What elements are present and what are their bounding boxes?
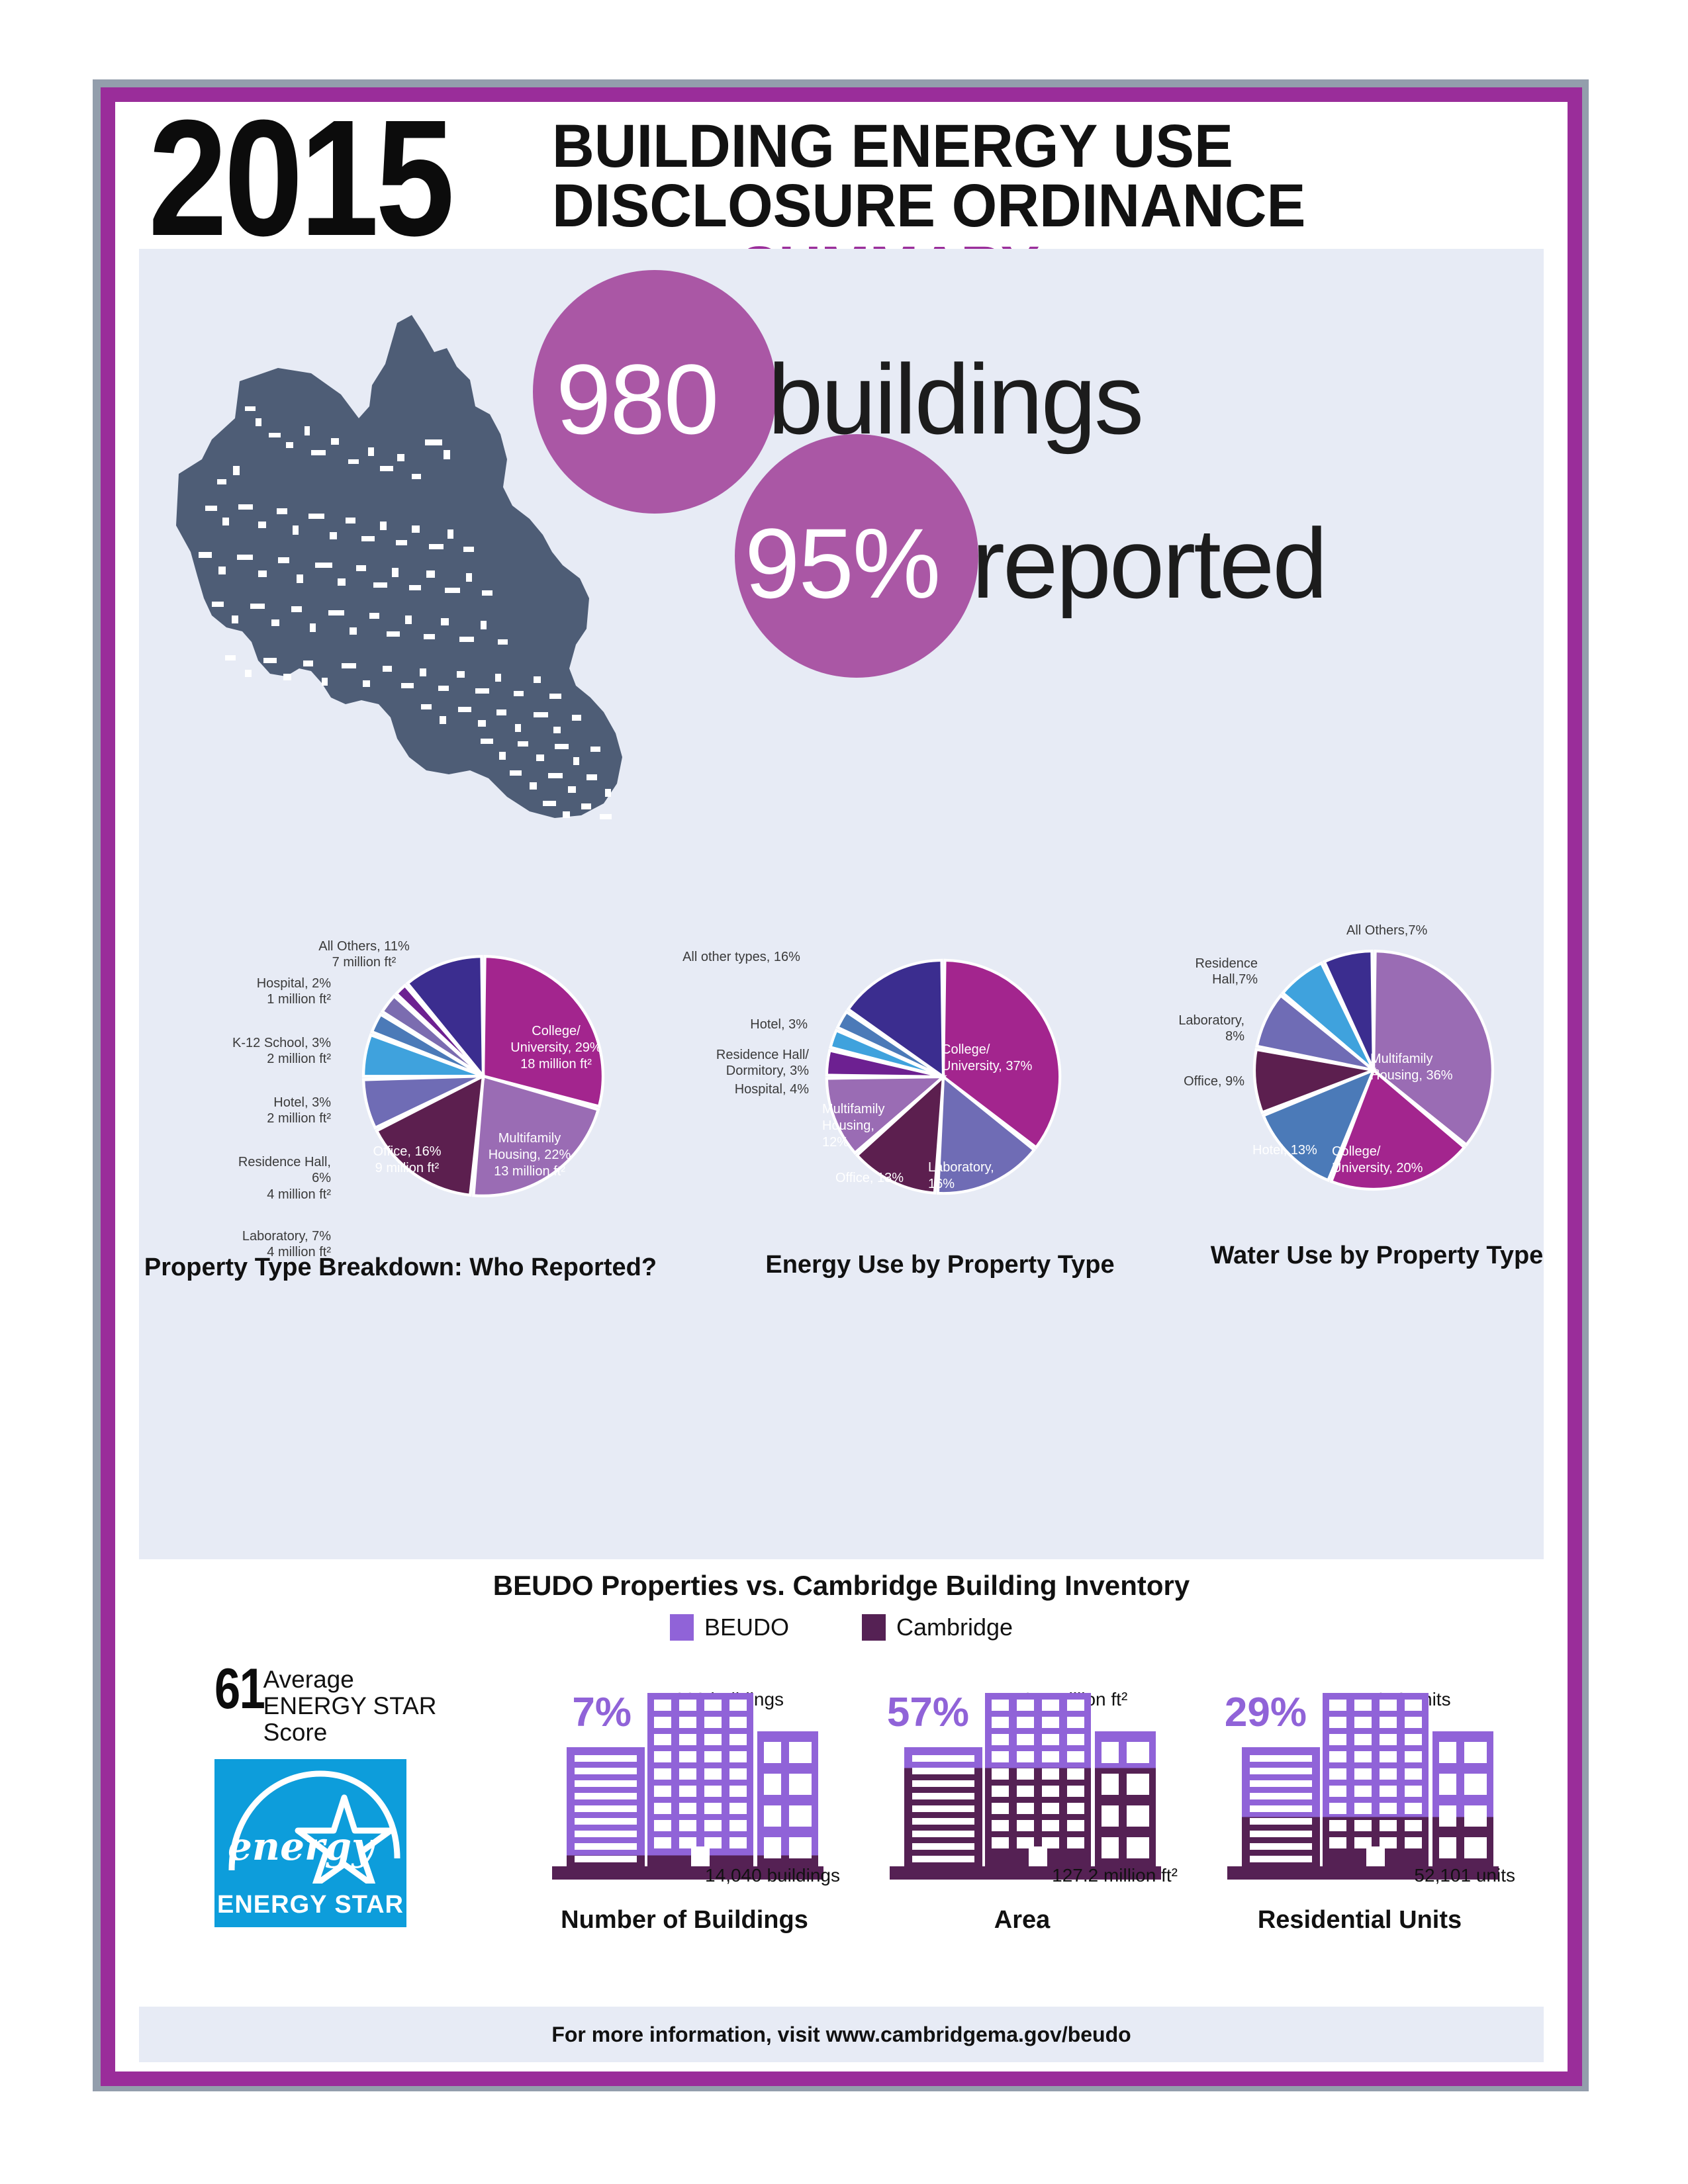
building-part — [1067, 1837, 1084, 1848]
building-part — [764, 1837, 781, 1858]
building-part — [729, 1717, 747, 1728]
building-part — [575, 1831, 637, 1837]
legend-label-beudo: BEUDO — [704, 1614, 789, 1641]
building-part — [1464, 1742, 1487, 1763]
building-part — [912, 1843, 974, 1850]
building-part — [1127, 1805, 1149, 1827]
building-part — [764, 1774, 781, 1795]
callout-k12-1: K-12 School, 3% 2 million ft² — [139, 1035, 331, 1068]
group-caption-area: Area — [857, 1906, 1188, 1934]
building-part — [1405, 1751, 1422, 1762]
building-part — [1127, 1774, 1149, 1795]
building-part — [1405, 1837, 1422, 1848]
building-part — [912, 1793, 974, 1799]
building-part — [1017, 1786, 1034, 1797]
building-part — [1250, 1793, 1312, 1799]
building-part — [1250, 1768, 1312, 1774]
building-part — [704, 1768, 722, 1780]
building-part — [575, 1755, 637, 1762]
building-part — [1250, 1818, 1312, 1825]
building-part — [704, 1700, 722, 1711]
callout-hospital-1: Hospital, 2% 1 million ft² — [139, 976, 331, 1008]
building-part — [1067, 1803, 1084, 1814]
building-part — [1042, 1717, 1059, 1728]
callout-laboratory-3: Laboratory, 8% — [1086, 1013, 1244, 1045]
skyline-icon-area — [870, 1681, 1181, 1880]
building-part — [1405, 1734, 1422, 1745]
building-part — [1380, 1803, 1397, 1814]
building-part — [1067, 1717, 1084, 1728]
callout-hospital-2: Hospital, 4% — [642, 1081, 809, 1097]
stat-number-buildings: 980 — [556, 349, 718, 449]
building-part — [704, 1751, 722, 1762]
callout-residence-hall-2: Residence Hall/ Dormitory, 3% — [635, 1047, 809, 1079]
building-part — [679, 1786, 696, 1797]
building-part — [1354, 1768, 1372, 1780]
building-part — [729, 1837, 747, 1848]
stat-label-buildings: buildings — [768, 349, 1142, 449]
building-part — [704, 1734, 722, 1745]
footer-text: For more information, visit www.cambridg… — [551, 2023, 1131, 2047]
building-part — [789, 1837, 812, 1858]
building-part — [1380, 1751, 1397, 1762]
building-part — [992, 1820, 1009, 1831]
building-part — [654, 1786, 671, 1797]
callout-office-3: Office, 9% — [1086, 1073, 1244, 1089]
building-part — [1042, 1803, 1059, 1814]
building-part — [575, 1818, 637, 1825]
building-part — [654, 1803, 671, 1814]
building-part — [704, 1803, 722, 1814]
building-part — [789, 1805, 812, 1827]
building-part — [912, 1805, 974, 1812]
building-part — [1354, 1803, 1372, 1814]
building-part — [1329, 1717, 1346, 1728]
chart-title-2: Energy Use by Property Type — [728, 1250, 1152, 1280]
building-part — [992, 1786, 1009, 1797]
building-part — [764, 1805, 781, 1827]
building-part — [1017, 1717, 1034, 1728]
stat-label-reported: reported — [972, 514, 1326, 613]
building-part — [654, 1700, 671, 1711]
building-part — [1354, 1734, 1372, 1745]
callout-hotel-1: Hotel, 3% 2 million ft² — [139, 1095, 331, 1127]
building-part — [1329, 1700, 1346, 1711]
building-part — [1329, 1768, 1346, 1780]
building-part — [1017, 1751, 1034, 1762]
group-cambridge-value-units: 52,101 units — [1277, 1865, 1515, 1886]
slice-label-college-1: College/ University, 29% 18 million ft² — [483, 1023, 629, 1072]
building-part — [654, 1734, 671, 1745]
title-line-2: DISCLOSURE ORDINANCE — [552, 176, 1493, 236]
building-part — [679, 1700, 696, 1711]
building-part — [1102, 1774, 1119, 1795]
building-part — [912, 1856, 974, 1862]
building-part — [1067, 1751, 1084, 1762]
building-part — [729, 1751, 747, 1762]
building-part — [575, 1843, 637, 1850]
building-part — [575, 1768, 637, 1774]
building-part — [679, 1768, 696, 1780]
infographic-page: 2015 BUILDING ENERGY USE DISCLOSURE ORDI… — [115, 102, 1568, 2071]
building-part — [729, 1803, 747, 1814]
building-part — [912, 1818, 974, 1825]
building-part — [1380, 1717, 1397, 1728]
group-cambridge-value-buildings: 14,040 buildings — [602, 1865, 840, 1886]
building-part — [1329, 1820, 1346, 1831]
building-part — [654, 1751, 671, 1762]
building-part — [1067, 1786, 1084, 1797]
callout-residence-hall-3: Residence Hall,7% — [1099, 956, 1258, 988]
building-part — [1250, 1805, 1312, 1812]
building-part — [1439, 1774, 1456, 1795]
building-part — [1017, 1820, 1034, 1831]
building-part — [1439, 1742, 1456, 1763]
building-part — [1405, 1717, 1422, 1728]
group-cambridge-value-area: 127.2 million ft² — [939, 1865, 1178, 1886]
building-part — [1329, 1786, 1346, 1797]
building-part — [1250, 1843, 1312, 1850]
building-part — [729, 1700, 747, 1711]
building-part — [789, 1774, 812, 1795]
legend-item-beudo: BEUDO — [670, 1614, 789, 1641]
group-caption-units: Residential Units — [1194, 1906, 1525, 1934]
building-part — [679, 1717, 696, 1728]
building-layer — [552, 1693, 823, 1880]
building-part — [1329, 1803, 1346, 1814]
callout-residence-hall-1: Residence Hall, 6% 4 million ft² — [139, 1154, 331, 1203]
building-part — [679, 1751, 696, 1762]
building-part — [912, 1831, 974, 1837]
callout-all-others-3: All Others,7% — [1346, 923, 1505, 938]
building-part — [1354, 1820, 1372, 1831]
building-part — [1354, 1786, 1372, 1797]
energy-star-score-label: Average ENERGY STAR Score — [263, 1666, 492, 1746]
building-part — [679, 1803, 696, 1814]
energy-star-logo-label: ENERGY STAR — [217, 1891, 404, 1919]
building-part — [1354, 1751, 1372, 1762]
building-part — [992, 1700, 1009, 1711]
building-part — [992, 1734, 1009, 1745]
building-part — [654, 1717, 671, 1728]
comparison-legend: BEUDO Cambridge — [115, 1614, 1568, 1641]
building-part — [1329, 1837, 1346, 1848]
slice-label-college-2: College/ University, 37% — [941, 1042, 1074, 1075]
slice-label-office-2: Office, 13% — [835, 1170, 941, 1187]
building-part — [1067, 1820, 1084, 1831]
building-part — [1067, 1768, 1084, 1780]
slice-label-multifamily-3: Multifamily Housing, 36% — [1370, 1051, 1509, 1084]
building-part — [992, 1803, 1009, 1814]
building-part — [1102, 1837, 1119, 1858]
building-part — [654, 1837, 671, 1848]
building-part — [1380, 1768, 1397, 1780]
building-part — [704, 1820, 722, 1831]
building-part — [912, 1768, 974, 1774]
slice-label-hotel-3: Hotel, 13% — [1252, 1142, 1358, 1159]
year-heading: 2015 — [148, 102, 451, 261]
slice-label-laboratory-2: Laboratory, 16% — [928, 1160, 1027, 1193]
building-part — [789, 1742, 812, 1763]
energy-wordmark: energy — [228, 1824, 377, 1869]
building-part — [729, 1786, 747, 1797]
building-part — [1127, 1837, 1149, 1858]
building-part — [1017, 1734, 1034, 1745]
group-caption-buildings: Number of Buildings — [519, 1906, 850, 1934]
building-part — [654, 1768, 671, 1780]
building-part — [1042, 1786, 1059, 1797]
building-part — [729, 1734, 747, 1745]
energy-star-block: 61 Average ENERGY STAR Score energy ENER… — [214, 1665, 492, 1927]
legend-label-cambridge: Cambridge — [896, 1614, 1013, 1641]
building-part — [729, 1820, 747, 1831]
building-part — [679, 1734, 696, 1745]
building-part — [1329, 1751, 1346, 1762]
legend-item-cambridge: Cambridge — [862, 1614, 1013, 1641]
building-part — [912, 1780, 974, 1787]
building-part — [1017, 1700, 1034, 1711]
building-part — [575, 1805, 637, 1812]
skyline-icon-units — [1207, 1681, 1519, 1880]
stat-number-reported: 95% — [745, 514, 939, 613]
building-part — [1067, 1734, 1084, 1745]
slice-label-multifamily-1: Multifamily Housing, 22% 13 million ft² — [463, 1130, 596, 1179]
building-part — [1042, 1751, 1059, 1762]
building-part — [1380, 1786, 1397, 1797]
building-part — [1380, 1734, 1397, 1745]
chart-title-1: Property Type Breakdown: Who Reported? — [139, 1252, 662, 1283]
building-part — [1042, 1734, 1059, 1745]
slice-label-office-1: Office, 16% 9 million ft² — [351, 1144, 463, 1177]
title-line-1: BUILDING ENERGY USE — [552, 116, 1493, 176]
building-part — [1042, 1768, 1059, 1780]
building-part — [1405, 1768, 1422, 1780]
building-part — [654, 1820, 671, 1831]
building-part — [1405, 1700, 1422, 1711]
slice-label-multifamily-2: Multifamily Housing, 12% — [822, 1101, 915, 1150]
building-part — [575, 1780, 637, 1787]
building-part — [992, 1837, 1009, 1848]
building-part — [1250, 1831, 1312, 1837]
building-part — [1354, 1700, 1372, 1711]
building-part — [992, 1717, 1009, 1728]
building-part — [704, 1717, 722, 1728]
callout-hotel-2: Hotel, 3% — [642, 1017, 808, 1032]
footer: For more information, visit www.cambridg… — [139, 2007, 1544, 2062]
building-part — [1067, 1700, 1084, 1711]
callout-all-others-1: All Others, 11% 7 million ft² — [271, 938, 457, 971]
building-part — [1380, 1820, 1397, 1831]
building-part — [1464, 1774, 1487, 1795]
callout-all-other-types-2: All other types, 16% — [635, 949, 847, 965]
building-part — [992, 1768, 1009, 1780]
legend-swatch-cambridge — [862, 1614, 886, 1641]
building-part — [992, 1751, 1009, 1762]
building-part — [912, 1755, 974, 1762]
energy-star-mark-icon: energy — [214, 1759, 406, 1884]
energy-star-logo: energy ENERGY STAR — [214, 1759, 406, 1927]
building-part — [1380, 1700, 1397, 1711]
building-part — [1405, 1786, 1422, 1797]
building-part — [1017, 1768, 1034, 1780]
building-part — [729, 1768, 747, 1780]
comparison-section: BEUDO Properties vs. Cambridge Building … — [115, 1562, 1568, 1985]
legend-swatch-beudo — [670, 1614, 694, 1641]
building-part — [575, 1856, 637, 1862]
energy-star-score: 61 — [214, 1665, 264, 1713]
chart-title-3: Water Use by Property Type — [1165, 1240, 1568, 1271]
building-part — [704, 1786, 722, 1797]
building-part — [1250, 1780, 1312, 1787]
comparison-title: BEUDO Properties vs. Cambridge Building … — [115, 1570, 1568, 1602]
building-part — [1354, 1717, 1372, 1728]
building-part — [1405, 1803, 1422, 1814]
building-part — [1405, 1820, 1422, 1831]
building-part — [764, 1742, 781, 1763]
building-part — [1250, 1755, 1312, 1762]
skyline-icon-buildings — [532, 1681, 843, 1880]
building-part — [1102, 1805, 1119, 1827]
building-part — [1464, 1837, 1487, 1858]
building-part — [1102, 1742, 1119, 1763]
building-part — [1329, 1734, 1346, 1745]
building-part — [575, 1793, 637, 1799]
building-part — [1439, 1837, 1456, 1858]
pie-charts-panel: Hospital, 2% 1 million ft² K-12 School, … — [139, 924, 1544, 1559]
building-part — [1042, 1820, 1059, 1831]
building-part — [679, 1820, 696, 1831]
map-panel: 980 buildings 95% reported — [139, 249, 1544, 924]
building-part — [1250, 1856, 1312, 1862]
building-part — [1042, 1700, 1059, 1711]
building-part — [1127, 1742, 1149, 1763]
building-part — [1017, 1803, 1034, 1814]
